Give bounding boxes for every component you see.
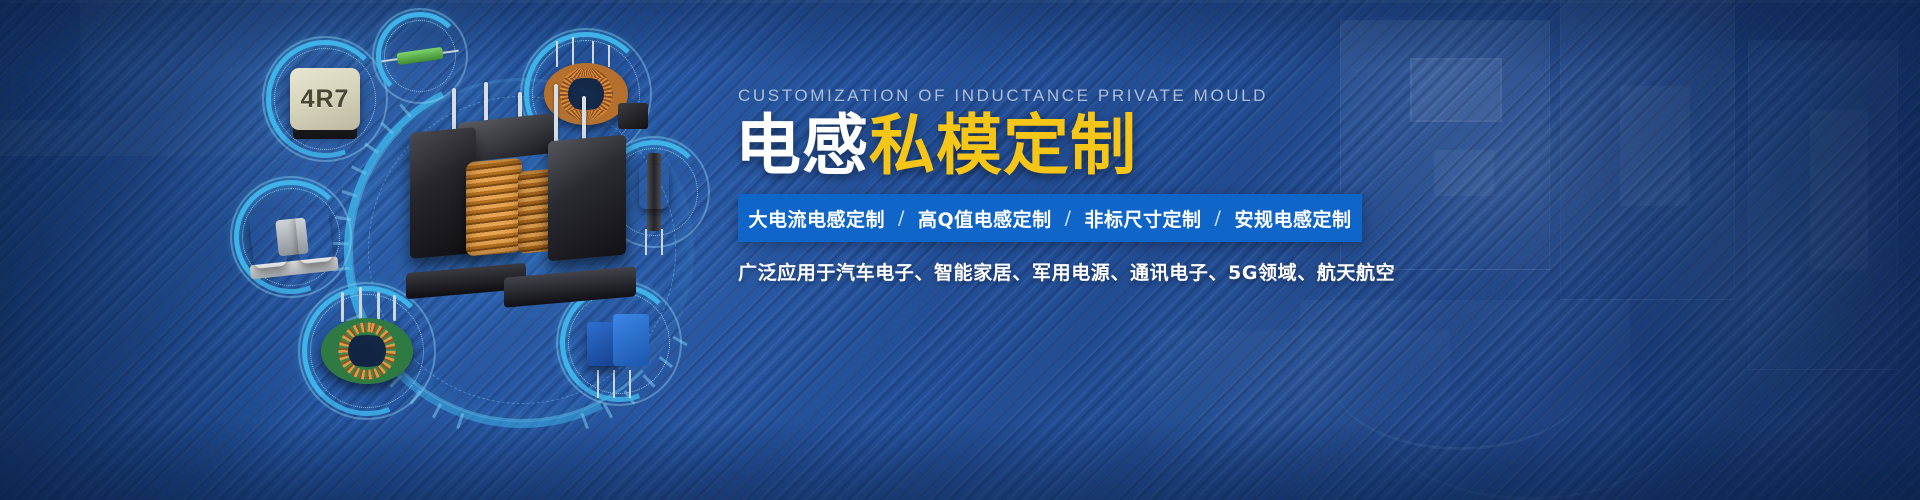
banner-title-white-part: 电感 (735, 107, 869, 184)
product-hero-power-transformer (406, 112, 636, 302)
rod-choke-winding (639, 165, 669, 209)
banner-tagline: 广泛应用于汽车电子、智能家居、军用电源、通讯电子、5G领域、航天航空 (738, 258, 1395, 285)
feature-separator-1: / (885, 207, 918, 229)
rod-choke-pin-left (645, 229, 647, 255)
product-showcase-cluster: 4R7 (0, 0, 760, 500)
smd-inductor-body: 4R7 (290, 68, 360, 130)
feature-separator-2: / (1052, 207, 1085, 229)
feature-item-4: 安规电感定制 (1234, 205, 1351, 232)
banner-title-yellow-part: 私模定制 (869, 107, 1137, 184)
blue-inductor-pins (593, 370, 643, 398)
banner-text-content: CUSTOMIZATION OF INDUCTANCE PRIVATE MOUL… (735, 0, 1875, 500)
green-toroid-winding (321, 318, 413, 384)
bobbin-coil-right (294, 205, 334, 264)
feature-separator-3: / (1202, 207, 1235, 229)
green-toroid-body (321, 318, 413, 384)
blue-inductor-body (587, 314, 651, 372)
feature-highlight-bar: 大电流电感定制/高Q值电感定制/非标尺寸定制/安规电感定制 (738, 194, 1362, 242)
product-smd-power-inductor: 4R7 (262, 36, 388, 162)
blue-inductor-block-b (613, 314, 649, 366)
hero-transformer-winding-a (466, 158, 522, 257)
feature-item-3: 非标尺寸定制 (1085, 205, 1202, 232)
rod-choke-pin-right (661, 229, 663, 255)
feature-list: 大电流电感定制/高Q值电感定制/非标尺寸定制/安规电感定制 (749, 205, 1352, 232)
rod-choke-body (637, 153, 671, 231)
feature-item-1: 大电流电感定制 (749, 205, 886, 232)
hero-transformer-right-core (548, 135, 626, 262)
feature-item-2: 高Q值电感定制 (918, 205, 1052, 232)
product-green-toroidal-inductor (298, 282, 436, 420)
hero-banner: 4R7 (0, 0, 1920, 500)
axial-lead-right (441, 50, 459, 54)
product-copper-bobbin-coil-pair (230, 176, 352, 298)
bobbin-coil-body (248, 205, 333, 269)
smd-inductor-label: 4R7 (290, 68, 360, 130)
banner-title: 电感私模定制 (735, 108, 1137, 184)
banner-english-subtitle: CUSTOMIZATION OF INDUCTANCE PRIVATE MOUL… (738, 86, 1268, 106)
